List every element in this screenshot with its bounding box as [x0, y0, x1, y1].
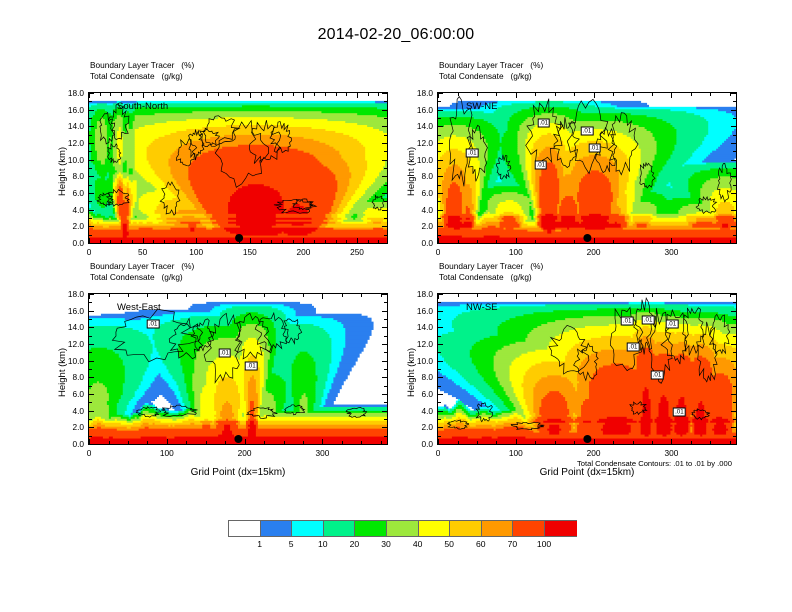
- x-tick: [438, 439, 439, 444]
- y-tick: [438, 243, 443, 244]
- colorbar-tick-label: 50: [444, 539, 454, 549]
- y-tick-minor: [89, 336, 92, 337]
- x-tick-minor: [691, 294, 692, 297]
- y-tick: [731, 444, 736, 445]
- contour-label: .01: [466, 149, 479, 158]
- y-tick-minor: [733, 135, 736, 136]
- x-tick-minor: [314, 93, 315, 96]
- x-tick-minor: [496, 240, 497, 243]
- x-tick-minor: [110, 93, 111, 96]
- x-tick-minor: [282, 93, 283, 96]
- y-tick-minor: [438, 369, 441, 370]
- x-tick-label: 300: [315, 448, 329, 458]
- y-tick: [438, 160, 443, 161]
- x-tick-minor: [378, 93, 379, 96]
- x-tick-label: 0: [436, 247, 441, 257]
- y-tick: [731, 411, 736, 412]
- y-tick-minor: [438, 419, 441, 420]
- x-tick-minor: [218, 93, 219, 96]
- contour-field-nw-se: [438, 294, 736, 444]
- x-tick-label: 150: [243, 247, 257, 257]
- y-tick-minor: [384, 151, 387, 152]
- y-tick-minor: [89, 352, 92, 353]
- colorbar-segment: [323, 520, 356, 537]
- x-tick: [322, 294, 323, 299]
- x-tick-label: 100: [509, 247, 523, 257]
- contour-field-sw-ne: [438, 93, 736, 243]
- y-tick: [731, 344, 736, 345]
- x-tick: [303, 93, 304, 98]
- y-tick: [438, 361, 443, 362]
- y-tick: [731, 226, 736, 227]
- x-tick-minor: [225, 441, 226, 444]
- y-tick-minor: [438, 218, 441, 219]
- y-tick: [438, 126, 443, 127]
- y-tick-minor: [384, 336, 387, 337]
- y-tick: [438, 176, 443, 177]
- x-tick: [167, 439, 168, 444]
- x-tick-minor: [325, 93, 326, 96]
- panel-header-line1: Boundary Layer Tracer (%): [90, 261, 194, 272]
- x-tick-minor: [652, 93, 653, 96]
- x-tick-minor: [336, 240, 337, 243]
- x-tick-minor: [293, 240, 294, 243]
- y-tick-minor: [733, 151, 736, 152]
- x-tick-minor: [378, 240, 379, 243]
- y-tick-label: 2.0: [52, 221, 84, 231]
- y-tick: [731, 93, 736, 94]
- y-tick: [382, 311, 387, 312]
- x-tick-minor: [128, 294, 129, 297]
- x-tick-minor: [574, 294, 575, 297]
- x-tick-minor: [164, 240, 165, 243]
- x-tick-minor: [218, 240, 219, 243]
- y-tick: [438, 311, 443, 312]
- y-tick-minor: [438, 168, 441, 169]
- y-tick-minor: [438, 402, 441, 403]
- y-tick-minor: [733, 369, 736, 370]
- y-tick-minor: [384, 402, 387, 403]
- y-tick: [382, 444, 387, 445]
- x-tick-label: 300: [664, 247, 678, 257]
- y-tick-minor: [89, 436, 92, 437]
- y-tick: [382, 377, 387, 378]
- y-tick-minor: [733, 419, 736, 420]
- colorbar-tick-label: 40: [413, 539, 423, 549]
- x-tick-minor: [132, 93, 133, 96]
- x-tick-label: 200: [587, 247, 601, 257]
- colorbar-tick-label: 10: [318, 539, 328, 549]
- y-axis-title: Height (km): [57, 147, 68, 196]
- y-tick-minor: [89, 135, 92, 136]
- y-tick: [382, 143, 387, 144]
- y-tick: [89, 394, 94, 395]
- x-tick-minor: [381, 441, 382, 444]
- x-tick-minor: [271, 93, 272, 96]
- x-tick-minor: [477, 294, 478, 297]
- x-tick-minor: [496, 294, 497, 297]
- panel-header-line2: Total Condensate (g/kg): [439, 71, 543, 82]
- y-tick: [731, 327, 736, 328]
- x-tick: [89, 238, 90, 243]
- contour-label: .01: [651, 371, 664, 380]
- y-tick: [731, 126, 736, 127]
- page-title: 2014-02-20_06:00:00: [0, 26, 792, 44]
- x-tick-minor: [100, 240, 101, 243]
- x-tick-label: 200: [296, 247, 310, 257]
- plot-area-sw-ne: SW-NE.01.01.01.01.01: [437, 92, 737, 244]
- contour-label: .01: [218, 349, 231, 358]
- y-axis-title: Height (km): [57, 348, 68, 397]
- y-tick-minor: [89, 386, 92, 387]
- x-tick-minor: [730, 93, 731, 96]
- y-tick: [382, 361, 387, 362]
- x-tick: [357, 93, 358, 98]
- x-tick-minor: [225, 294, 226, 297]
- x-tick-minor: [368, 93, 369, 96]
- y-tick-label: 18.0: [52, 88, 84, 98]
- x-axis-title: Grid Point (dx=15km): [191, 467, 286, 478]
- y-tick-minor: [733, 386, 736, 387]
- x-tick-label: 300: [664, 448, 678, 458]
- y-tick-minor: [438, 336, 441, 337]
- y-tick: [89, 327, 94, 328]
- y-tick-minor: [384, 118, 387, 119]
- x-tick-minor: [264, 294, 265, 297]
- y-tick-minor: [89, 218, 92, 219]
- y-tick-label: 18.0: [52, 289, 84, 299]
- y-tick-minor: [438, 319, 441, 320]
- y-tick-minor: [733, 101, 736, 102]
- x-tick-minor: [633, 441, 634, 444]
- x-tick-minor: [730, 240, 731, 243]
- x-tick: [89, 93, 90, 98]
- x-tick-minor: [458, 240, 459, 243]
- x-tick-minor: [574, 93, 575, 96]
- x-tick-minor: [109, 441, 110, 444]
- y-tick: [382, 126, 387, 127]
- y-tick-minor: [733, 168, 736, 169]
- y-tick-label: 0.0: [52, 439, 84, 449]
- x-tick-minor: [206, 441, 207, 444]
- y-tick-minor: [89, 118, 92, 119]
- contour-label: .01: [588, 143, 601, 152]
- x-tick-minor: [691, 441, 692, 444]
- y-tick-minor: [89, 101, 92, 102]
- x-tick-minor: [458, 93, 459, 96]
- y-tick: [438, 394, 443, 395]
- y-tick-minor: [438, 135, 441, 136]
- x-tick-minor: [284, 441, 285, 444]
- contour-label: .01: [673, 407, 686, 416]
- y-tick: [731, 427, 736, 428]
- x-tick: [671, 238, 672, 243]
- contour-label: .01: [666, 320, 679, 329]
- y-tick-minor: [438, 386, 441, 387]
- x-tick: [245, 294, 246, 299]
- colorbar-segment: [481, 520, 514, 537]
- x-tick-minor: [303, 441, 304, 444]
- y-tick: [438, 210, 443, 211]
- y-tick: [89, 126, 94, 127]
- y-tick: [382, 110, 387, 111]
- colorbar-segment: [386, 520, 419, 537]
- x-tick-minor: [613, 93, 614, 96]
- y-tick-label: 0.0: [52, 238, 84, 248]
- panel-header-line2: Total Condensate (g/kg): [439, 272, 543, 283]
- x-tick-minor: [458, 441, 459, 444]
- colorbar-tick-label: 70: [508, 539, 518, 549]
- x-tick-minor: [730, 441, 731, 444]
- y-tick-minor: [89, 185, 92, 186]
- colorbar-segment: [291, 520, 324, 537]
- y-tick: [89, 444, 94, 445]
- x-tick-minor: [361, 441, 362, 444]
- panel-label-sw-ne: SW-NE: [466, 101, 498, 112]
- panel-header-line1: Boundary Layer Tracer (%): [439, 60, 543, 71]
- y-tick-minor: [733, 118, 736, 119]
- y-tick-minor: [384, 319, 387, 320]
- x-tick-minor: [239, 93, 240, 96]
- y-tick-minor: [733, 235, 736, 236]
- x-tick-minor: [228, 240, 229, 243]
- y-tick-label: 4.0: [52, 205, 84, 215]
- x-tick-minor: [652, 294, 653, 297]
- y-tick: [382, 327, 387, 328]
- y-tick-minor: [384, 135, 387, 136]
- x-tick-minor: [342, 441, 343, 444]
- y-tick: [731, 394, 736, 395]
- y-tick-minor: [384, 201, 387, 202]
- y-tick: [89, 160, 94, 161]
- x-tick: [196, 93, 197, 98]
- x-tick-minor: [477, 441, 478, 444]
- y-tick-minor: [384, 352, 387, 353]
- y-tick-label: 16.0: [401, 306, 433, 316]
- y-tick: [382, 294, 387, 295]
- x-tick: [143, 93, 144, 98]
- panel-label-nw-se: NW-SE: [466, 302, 498, 313]
- y-tick-minor: [384, 101, 387, 102]
- x-tick-minor: [207, 93, 208, 96]
- x-tick-minor: [477, 240, 478, 243]
- y-tick-label: 16.0: [52, 105, 84, 115]
- y-tick: [89, 243, 94, 244]
- x-tick-minor: [535, 93, 536, 96]
- panel-header-nw-se: Boundary Layer Tracer (%)Total Condensat…: [439, 261, 543, 282]
- y-tick: [382, 427, 387, 428]
- x-tick-minor: [535, 441, 536, 444]
- x-tick: [303, 238, 304, 243]
- y-tick: [89, 311, 94, 312]
- plot-area-nw-se: NW-SE.01.01.01.01.01.01: [437, 293, 737, 445]
- x-tick-minor: [121, 240, 122, 243]
- x-tick: [196, 238, 197, 243]
- y-tick-minor: [438, 185, 441, 186]
- x-tick-minor: [652, 240, 653, 243]
- y-tick-minor: [733, 352, 736, 353]
- y-tick-minor: [89, 402, 92, 403]
- colorbar-segment: [512, 520, 545, 537]
- x-tick-minor: [186, 93, 187, 96]
- x-tick-minor: [206, 294, 207, 297]
- x-tick-minor: [633, 240, 634, 243]
- x-tick-label: 0: [436, 448, 441, 458]
- y-tick: [731, 143, 736, 144]
- y-tick-label: 14.0: [52, 322, 84, 332]
- colorbar-segment: [449, 520, 482, 537]
- x-tick: [250, 238, 251, 243]
- x-tick-minor: [132, 240, 133, 243]
- colorbar-tick-label: 60: [476, 539, 486, 549]
- y-tick: [89, 110, 94, 111]
- x-tick-minor: [264, 441, 265, 444]
- y-tick: [731, 243, 736, 244]
- x-tick-label: 250: [350, 247, 364, 257]
- y-axis-title: Height (km): [406, 348, 417, 397]
- y-tick-minor: [384, 302, 387, 303]
- x-tick-minor: [282, 240, 283, 243]
- x-tick-minor: [325, 240, 326, 243]
- x-tick: [143, 238, 144, 243]
- y-tick-label: 14.0: [401, 322, 433, 332]
- y-tick-minor: [89, 168, 92, 169]
- y-tick-label: 4.0: [401, 406, 433, 416]
- y-tick-minor: [384, 218, 387, 219]
- x-tick: [167, 294, 168, 299]
- x-tick-minor: [100, 93, 101, 96]
- y-tick-minor: [384, 436, 387, 437]
- contour-note: Total Condensate Contours: .01 to .01 by…: [577, 459, 732, 468]
- x-tick-minor: [633, 294, 634, 297]
- x-tick-label: 200: [238, 448, 252, 458]
- y-tick: [731, 311, 736, 312]
- contour-label: .01: [621, 317, 634, 326]
- colorbar-tick-label: 100: [537, 539, 551, 549]
- y-tick-minor: [733, 302, 736, 303]
- x-tick-label: 50: [138, 247, 147, 257]
- y-tick-minor: [89, 319, 92, 320]
- x-tick: [438, 294, 439, 299]
- contour-label: .01: [537, 119, 550, 128]
- x-tick-minor: [228, 93, 229, 96]
- y-tick: [382, 344, 387, 345]
- panel-label-south-north: South-North: [117, 101, 168, 112]
- x-tick: [516, 294, 517, 299]
- x-tick-minor: [574, 441, 575, 444]
- y-tick-minor: [733, 336, 736, 337]
- x-tick-minor: [535, 240, 536, 243]
- x-tick: [438, 238, 439, 243]
- y-tick-label: 0.0: [401, 439, 433, 449]
- colorbar-segment: [228, 520, 261, 537]
- x-tick: [250, 93, 251, 98]
- x-tick-minor: [284, 294, 285, 297]
- contour-label: .01: [581, 127, 594, 136]
- y-tick-minor: [89, 235, 92, 236]
- x-tick-minor: [239, 240, 240, 243]
- x-tick: [438, 93, 439, 98]
- y-tick-minor: [384, 235, 387, 236]
- y-tick: [731, 110, 736, 111]
- y-tick-label: 0.0: [401, 238, 433, 248]
- x-tick-minor: [496, 441, 497, 444]
- x-tick-minor: [346, 240, 347, 243]
- y-tick-minor: [438, 235, 441, 236]
- panel-header-line2: Total Condensate (g/kg): [90, 272, 194, 283]
- x-tick-minor: [164, 93, 165, 96]
- y-tick: [731, 210, 736, 211]
- x-tick-minor: [458, 294, 459, 297]
- x-tick: [671, 93, 672, 98]
- x-tick: [322, 439, 323, 444]
- x-tick: [516, 238, 517, 243]
- y-tick-minor: [89, 151, 92, 152]
- x-tick-minor: [147, 441, 148, 444]
- x-tick: [245, 439, 246, 444]
- x-tick-minor: [555, 294, 556, 297]
- x-tick-minor: [574, 240, 575, 243]
- panel-header-west-east: Boundary Layer Tracer (%)Total Condensat…: [90, 261, 194, 282]
- x-tick-minor: [710, 294, 711, 297]
- x-tick-minor: [613, 240, 614, 243]
- x-tick-minor: [293, 93, 294, 96]
- y-tick: [89, 176, 94, 177]
- x-tick-minor: [613, 441, 614, 444]
- y-tick: [382, 411, 387, 412]
- x-tick: [89, 294, 90, 299]
- y-tick: [731, 377, 736, 378]
- x-tick: [671, 294, 672, 299]
- panel-header-line2: Total Condensate (g/kg): [90, 71, 194, 82]
- x-tick-minor: [346, 93, 347, 96]
- x-tick-label: 100: [160, 448, 174, 458]
- y-tick: [382, 160, 387, 161]
- y-tick-minor: [89, 201, 92, 202]
- y-tick-minor: [438, 101, 441, 102]
- y-tick: [731, 294, 736, 295]
- x-tick: [357, 238, 358, 243]
- y-tick: [438, 226, 443, 227]
- colorbar-tick-label: 30: [381, 539, 391, 549]
- y-tick-minor: [733, 185, 736, 186]
- y-tick-minor: [438, 352, 441, 353]
- y-tick-minor: [438, 436, 441, 437]
- y-tick-minor: [733, 436, 736, 437]
- contour-field-south-north: [89, 93, 387, 243]
- y-tick-label: 18.0: [401, 289, 433, 299]
- x-tick-minor: [186, 294, 187, 297]
- x-tick-minor: [477, 93, 478, 96]
- x-tick-minor: [381, 294, 382, 297]
- x-tick-label: 100: [189, 247, 203, 257]
- y-tick-minor: [438, 201, 441, 202]
- y-tick-minor: [384, 369, 387, 370]
- y-tick-minor: [733, 319, 736, 320]
- panel-label-west-east: West-East: [117, 302, 161, 313]
- y-tick-label: 2.0: [52, 422, 84, 432]
- x-tick-label: 0: [87, 247, 92, 257]
- x-tick-minor: [186, 240, 187, 243]
- contour-field-west-east: [89, 294, 387, 444]
- y-tick-minor: [89, 419, 92, 420]
- contour-label: .01: [627, 342, 640, 351]
- y-tick: [438, 110, 443, 111]
- x-tick: [671, 439, 672, 444]
- y-tick-minor: [438, 302, 441, 303]
- y-tick: [89, 193, 94, 194]
- x-tick-minor: [710, 441, 711, 444]
